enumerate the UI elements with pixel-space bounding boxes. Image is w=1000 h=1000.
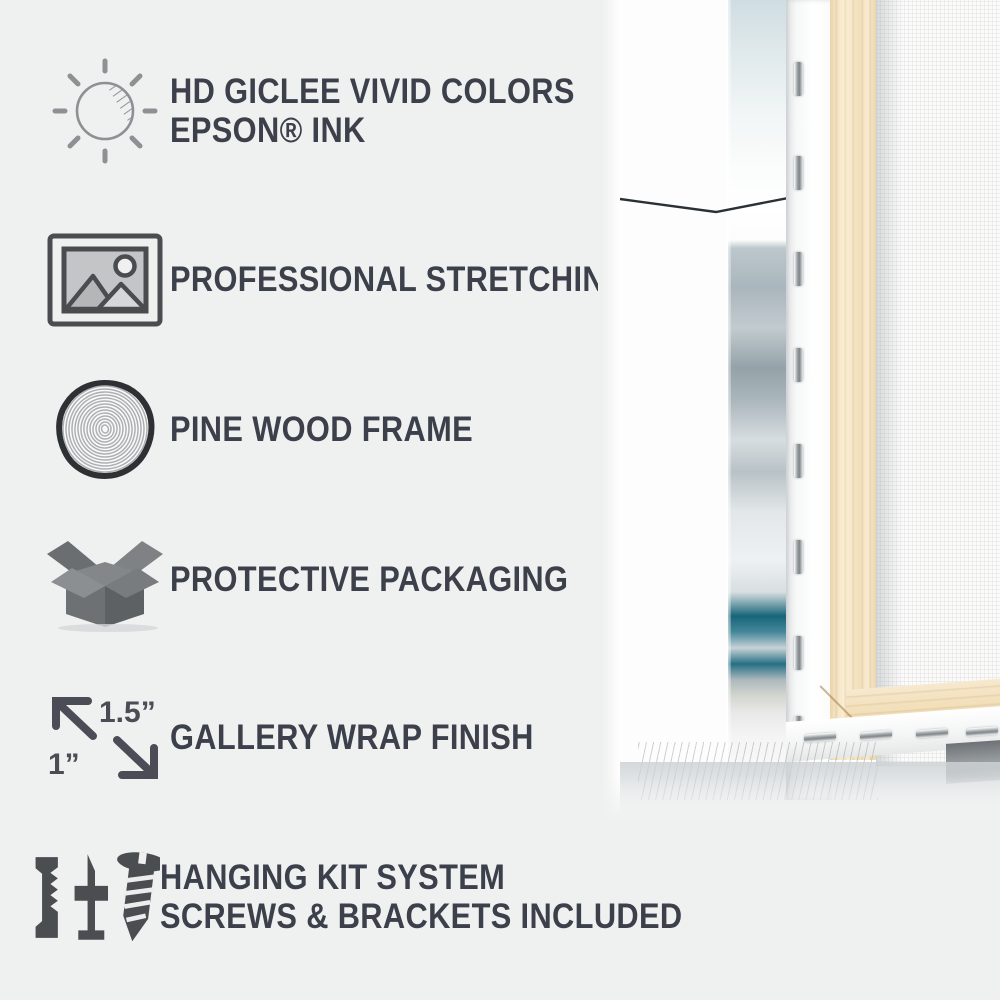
svg-text:1.5”: 1.5”: [99, 696, 156, 729]
feature-label-line: PROFESSIONAL STRETCHING: [170, 260, 629, 299]
feature-labels: GALLERY WRAP FINISH: [170, 718, 583, 757]
pine-stretcher-bar-vertical: [830, 0, 878, 760]
backing-inner-shadow: [876, 0, 902, 766]
staple: [794, 444, 803, 478]
feature-label-line: GALLERY WRAP FINISH: [170, 718, 534, 757]
open-box-icon: [40, 528, 170, 632]
canvas-backing: [876, 0, 1000, 766]
feature-item-hanging-kit: HANGING KIT SYSTEM SCREWS & BRACKETS INC…: [30, 845, 754, 949]
canvas-back-corner-photo: [598, 0, 1000, 822]
feature-label-line: EPSON® INK: [170, 111, 575, 150]
staple: [794, 156, 803, 190]
feature-labels: HD GICLEE VIVID COLORS EPSON® INK: [170, 72, 630, 150]
feature-label-line: HANGING KIT SYSTEM: [160, 858, 683, 897]
depth-arrows-icon: 1.5” 1”: [40, 692, 170, 784]
staple: [794, 252, 803, 286]
wood-grain-texture: [830, 0, 878, 760]
feature-item-stretching: PROFESSIONAL STRETCHING: [40, 232, 692, 328]
feature-item-gallery-wrap: 1.5” 1” GALLERY WRAP FINISH: [40, 692, 583, 784]
staple: [794, 540, 803, 574]
feature-label-line: HD GICLEE VIVID COLORS: [170, 72, 575, 111]
artwork-wrapped-edge-side: [728, 0, 788, 800]
artwork-wrapped-edge-front: [620, 0, 728, 800]
feature-labels: PINE WOOD FRAME: [170, 410, 514, 449]
feature-item-packaging: PROTECTIVE PACKAGING: [40, 528, 623, 632]
photo-bottom-fade: [598, 776, 1000, 822]
tree-rings-icon: [40, 378, 170, 482]
framed-picture-icon: [40, 232, 170, 328]
staple: [860, 730, 892, 740]
staple: [966, 726, 998, 736]
feature-item-pine-frame: PINE WOOD FRAME: [40, 378, 514, 482]
feature-item-giclee: HD GICLEE VIVID COLORS EPSON® INK: [40, 55, 630, 167]
photo-left-fade: [598, 0, 616, 822]
staple: [794, 348, 803, 382]
feature-label-line: SCREWS & BRACKETS INCLUDED: [160, 897, 683, 936]
feature-label-line: PINE WOOD FRAME: [170, 410, 473, 449]
feature-label-line: PROTECTIVE PACKAGING: [170, 560, 568, 599]
sun-uv-fade-icon: [40, 55, 170, 167]
screw-nail-bracket-icon: [30, 845, 160, 949]
staple: [794, 636, 803, 670]
canvas-corner-seam: [726, 0, 731, 800]
artwork-fold-chevron: [620, 196, 788, 214]
svg-text:1”: 1”: [48, 748, 80, 781]
feature-labels: HANGING KIT SYSTEM SCREWS & BRACKETS INC…: [160, 858, 754, 936]
infographic-canvas: HD GICLEE VIVID COLORS EPSON® INK PROFES…: [0, 0, 1000, 1000]
feature-list: HD GICLEE VIVID COLORS EPSON® INK PROFES…: [0, 0, 620, 1000]
staple: [794, 62, 803, 96]
feature-labels: PROTECTIVE PACKAGING: [170, 560, 623, 599]
staple: [916, 728, 948, 738]
